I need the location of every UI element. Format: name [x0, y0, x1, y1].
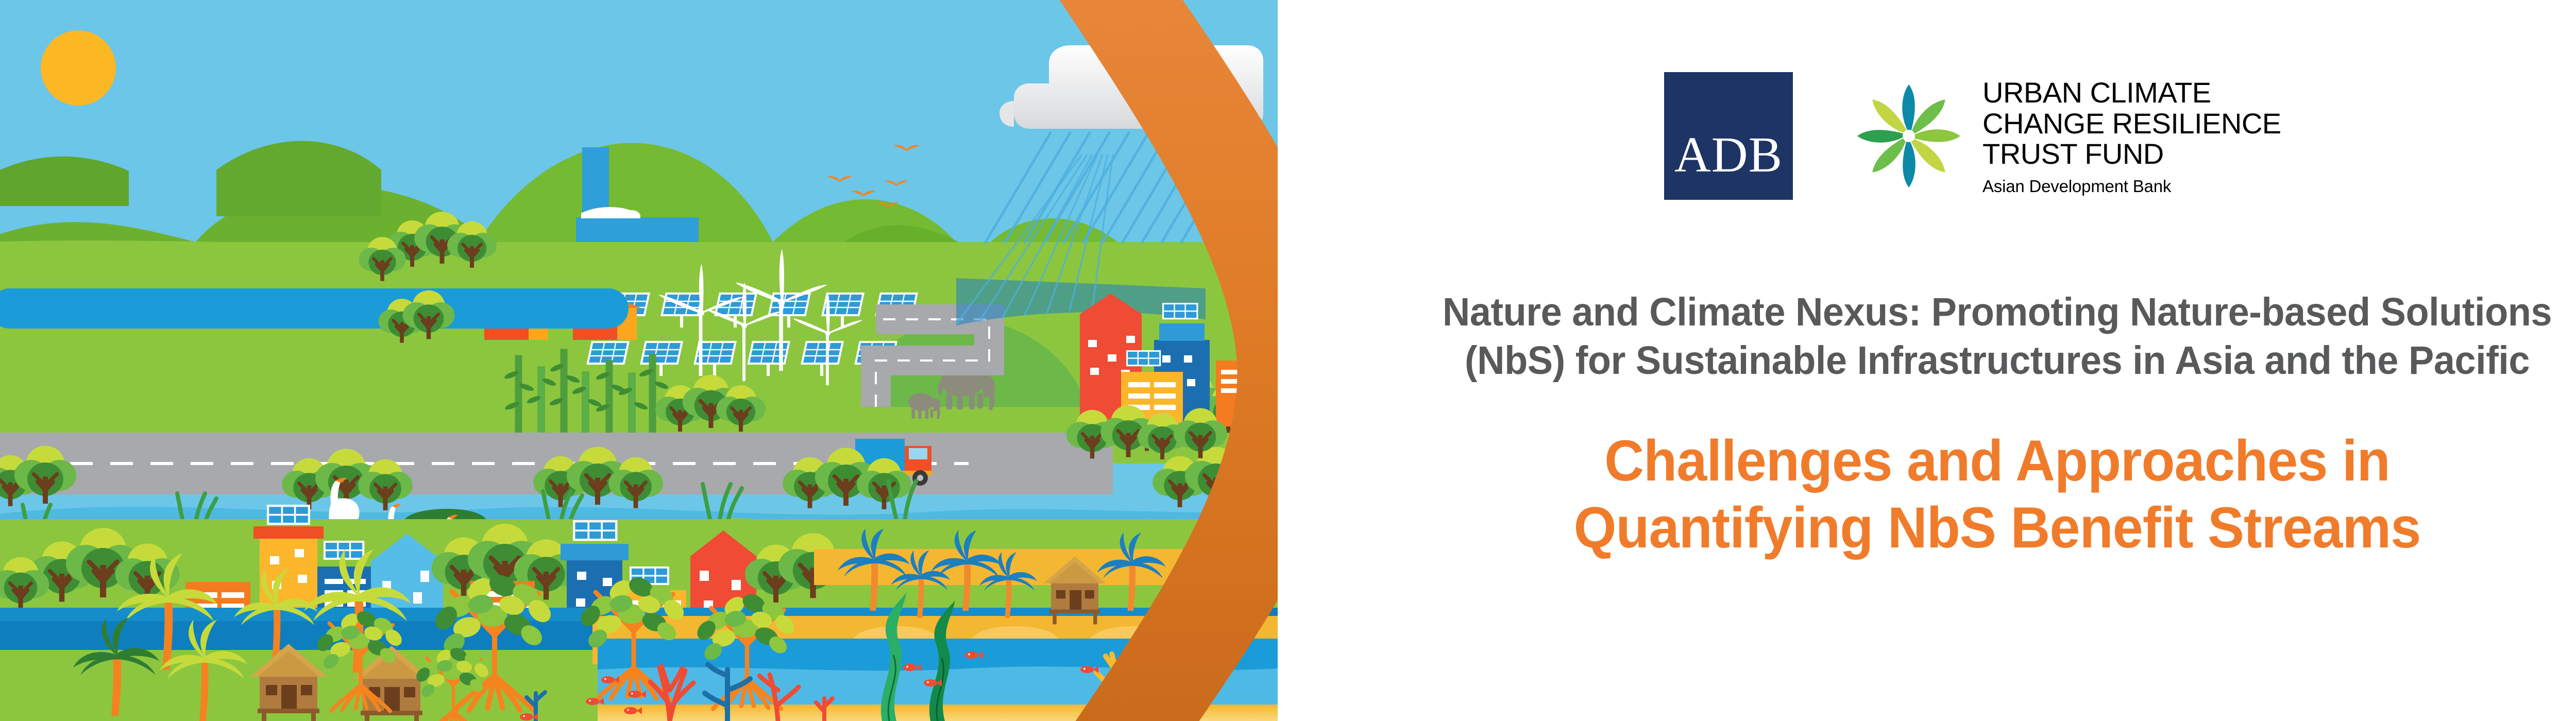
adb-logo: ADB [1664, 72, 1793, 200]
logo-row: ADB [1664, 72, 2281, 200]
uccrtf-line-2: CHANGE RESILIENCE [1982, 108, 2281, 139]
uccrtf-pinwheel-icon [1850, 77, 1968, 195]
title-line-2: Quantifying NbS Benefit Streams [1284, 494, 2576, 561]
content-panel: ADB [1247, 0, 2576, 721]
sun-icon [41, 30, 116, 106]
uccrtf-line-3: TRUST FUND [1982, 139, 2281, 169]
uccrtf-line-1: URBAN CLIMATE [1982, 77, 2281, 108]
subtitle-line-1: Nature and Climate Nexus: Promoting Natu… [1277, 288, 2576, 337]
adb-wordmark: ADB [1674, 130, 1783, 180]
uccrtf-sublabel: Asian Development Bank [1982, 178, 2281, 195]
subtitle-line-2: (NbS) for Sustainable Infrastructures in… [1277, 337, 2576, 385]
landscape-illustration [0, 0, 1278, 721]
uccrtf-wordmark: URBAN CLIMATE CHANGE RESILIENCE TRUST FU… [1982, 77, 2281, 195]
uccrtf-logo: URBAN CLIMATE CHANGE RESILIENCE TRUST FU… [1850, 77, 2281, 195]
event-title: Challenges and Approaches in Quantifying… [1284, 427, 2576, 561]
title-line-1: Challenges and Approaches in [1284, 427, 2576, 494]
event-banner: ADB [0, 0, 2576, 721]
event-subtitle: Nature and Climate Nexus: Promoting Natu… [1277, 288, 2576, 385]
